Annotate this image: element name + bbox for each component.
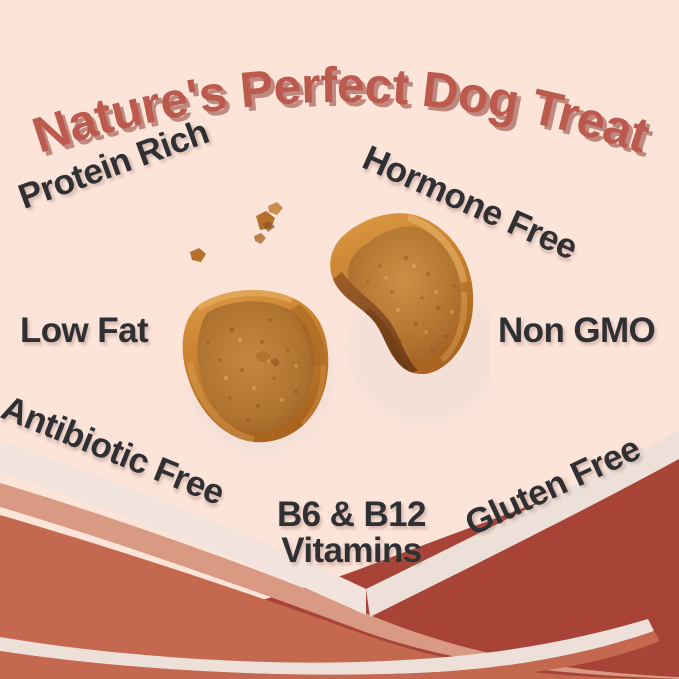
product-infographic-poster: Nature's Perfect Dog Treat Nature's Perf… [0,0,679,679]
feature-label-vitamins: B6 & B12 Vitamins [277,497,426,570]
feature-label-vitamins-line1: B6 & B12 [277,497,426,533]
feature-label-non-gmo: Non GMO [498,313,655,349]
feature-label-low-fat: Low Fat [20,313,148,349]
feature-label-vitamins-line2: Vitamins [277,533,426,569]
